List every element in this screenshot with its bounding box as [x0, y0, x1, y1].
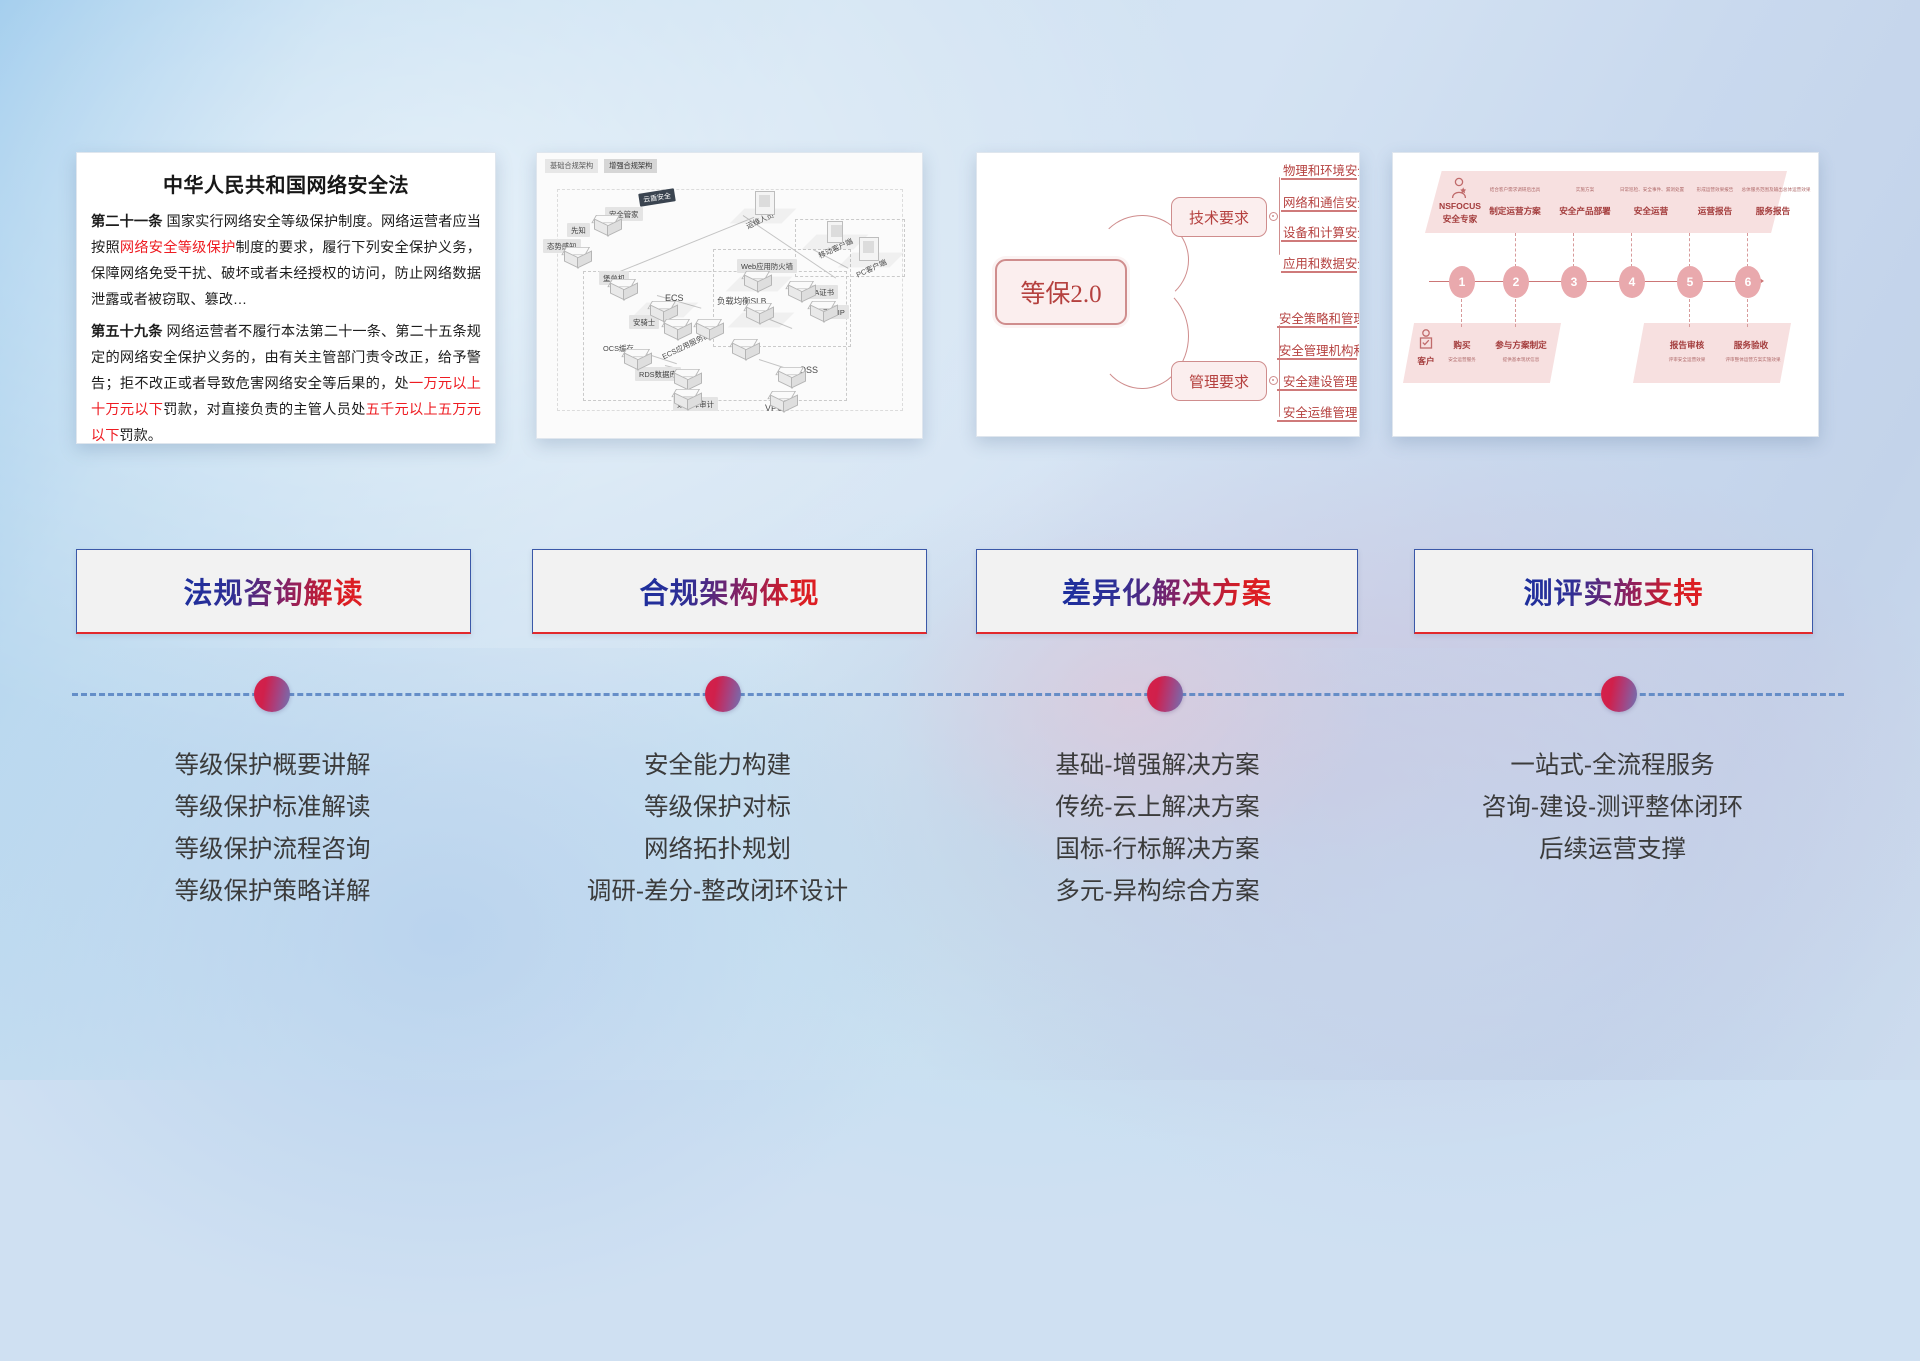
bullet-item: 等级保护标准解读 — [60, 787, 485, 829]
pillar-row: 法规咨询解读 合规架构体现 差异化解决方案 测评实施支持 等级保护概要讲解 等级… — [0, 0, 1920, 1080]
bullet-item: 等级保护策略详解 — [60, 871, 485, 913]
timeline-dashed-line — [72, 693, 1844, 696]
bullet-item: 网络拓扑规划 — [505, 829, 930, 871]
bullet-item: 咨询-建设-测评整体闭环 — [1400, 787, 1825, 829]
bullet-item: 基础-增强解决方案 — [945, 745, 1370, 787]
bullet-item: 一站式-全流程服务 — [1400, 745, 1825, 787]
timeline-dot-3 — [1147, 676, 1183, 712]
bullet-item: 传统-云上解决方案 — [945, 787, 1370, 829]
pillar-box-differentiated-solution[interactable]: 差异化解决方案 — [976, 549, 1358, 634]
bullet-item: 等级保护概要讲解 — [60, 745, 485, 787]
timeline-dot-4 — [1601, 676, 1637, 712]
pillar-box-assessment-support[interactable]: 测评实施支持 — [1414, 549, 1813, 634]
pillar-label-4: 测评实施支持 — [1523, 570, 1703, 612]
bullet-item: 调研-差分-整改闭环设计 — [505, 871, 930, 913]
pillar-label-3: 差异化解决方案 — [1062, 570, 1272, 612]
timeline-dot-2 — [705, 676, 741, 712]
bullet-item: 后续运营支撑 — [1400, 829, 1825, 871]
bullet-column-1: 等级保护概要讲解 等级保护标准解读 等级保护流程咨询 等级保护策略详解 — [60, 745, 485, 914]
pillar-label-2: 合规架构体现 — [639, 570, 819, 612]
bullet-column-4: 一站式-全流程服务 咨询-建设-测评整体闭环 后续运营支撑 — [1400, 745, 1825, 871]
bullet-item: 多元-异构综合方案 — [945, 871, 1370, 913]
pillar-box-compliance-architecture[interactable]: 合规架构体现 — [532, 549, 927, 634]
bullet-item: 等级保护流程咨询 — [60, 829, 485, 871]
bullet-item: 国标-行标解决方案 — [945, 829, 1370, 871]
bullet-item: 安全能力构建 — [505, 745, 930, 787]
timeline-dot-1 — [254, 676, 290, 712]
pillar-label-1: 法规咨询解读 — [183, 570, 363, 612]
bullet-column-3: 基础-增强解决方案 传统-云上解决方案 国标-行标解决方案 多元-异构综合方案 — [945, 745, 1370, 914]
bullet-item: 等级保护对标 — [505, 787, 930, 829]
pillar-box-regulatory-consulting[interactable]: 法规咨询解读 — [76, 549, 471, 634]
bullet-column-2: 安全能力构建 等级保护对标 网络拓扑规划 调研-差分-整改闭环设计 — [505, 745, 930, 914]
